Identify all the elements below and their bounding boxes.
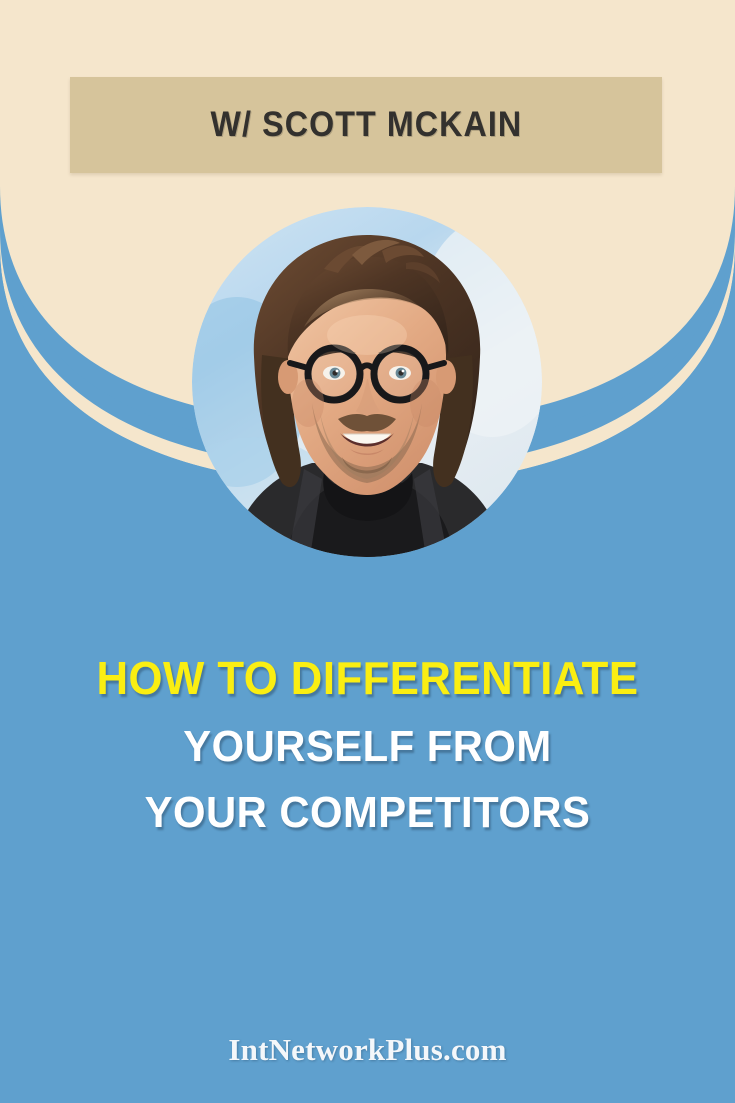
guest-name-text: W/ SCOTT MCKAIN bbox=[210, 105, 522, 145]
guest-portrait bbox=[192, 207, 542, 557]
footer-website-url[interactable]: IntNetworkPlus.com bbox=[0, 1032, 735, 1068]
guest-name-banner: W/ SCOTT MCKAIN bbox=[70, 77, 662, 173]
headline-line-2: YOURSELF FROM bbox=[18, 725, 716, 769]
headline-line-3: YOUR COMPETITORS bbox=[18, 791, 716, 835]
pin-graphic: W/ SCOTT MCKAIN bbox=[0, 0, 735, 1103]
headline: HOW TO DIFFERENTIATE YOURSELF FROM YOUR … bbox=[0, 655, 735, 835]
headline-line-1: HOW TO DIFFERENTIATE bbox=[18, 655, 716, 701]
portrait-illustration bbox=[192, 207, 542, 557]
